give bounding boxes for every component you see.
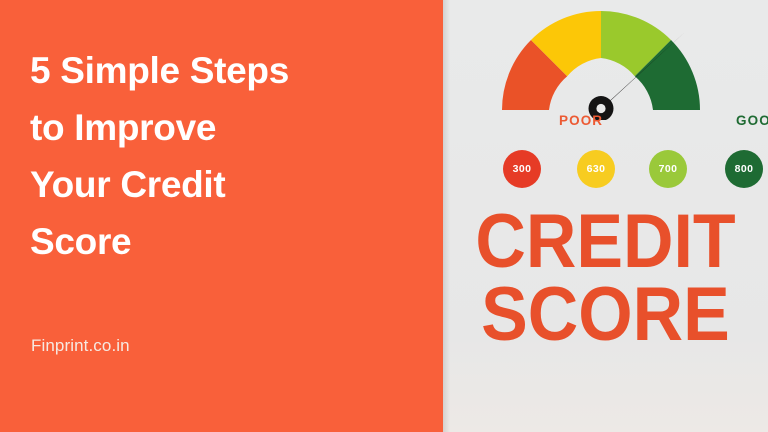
score-badge-700: 700 (649, 150, 687, 188)
credit-score-wordmark: CREDIT SCORE (456, 206, 755, 352)
score-badge-row: 300 630 700 800 (503, 150, 763, 190)
gauge-label-good: GOOD (736, 113, 768, 128)
score-badge-800-label: 800 (735, 163, 754, 175)
score-badge-300-label: 300 (513, 163, 532, 175)
right-illustration-panel: POOR GOOD 300 630 700 800 CREDIT SCORE (443, 0, 768, 432)
left-orange-panel: 5 Simple Steps to Improve Your Credit Sc… (0, 0, 443, 432)
gauge-svg (496, 2, 706, 120)
credit-score-gauge: POOR GOOD (496, 2, 706, 120)
page-title: 5 Simple Steps to Improve Your Credit Sc… (30, 42, 430, 271)
score-badge-800: 800 (725, 150, 763, 188)
score-badge-300: 300 (503, 150, 541, 188)
score-badge-630: 630 (577, 150, 615, 188)
gauge-label-poor: POOR (559, 113, 603, 128)
site-url-label: Finprint.co.in (31, 336, 130, 356)
wordmark-line-credit: CREDIT (456, 206, 755, 279)
panel-edge-shadow (443, 0, 450, 432)
poster-canvas: 5 Simple Steps to Improve Your Credit Sc… (0, 0, 768, 432)
score-badge-700-label: 700 (659, 163, 678, 175)
score-badge-630-label: 630 (587, 163, 606, 175)
wordmark-line-score: SCORE (456, 279, 755, 352)
